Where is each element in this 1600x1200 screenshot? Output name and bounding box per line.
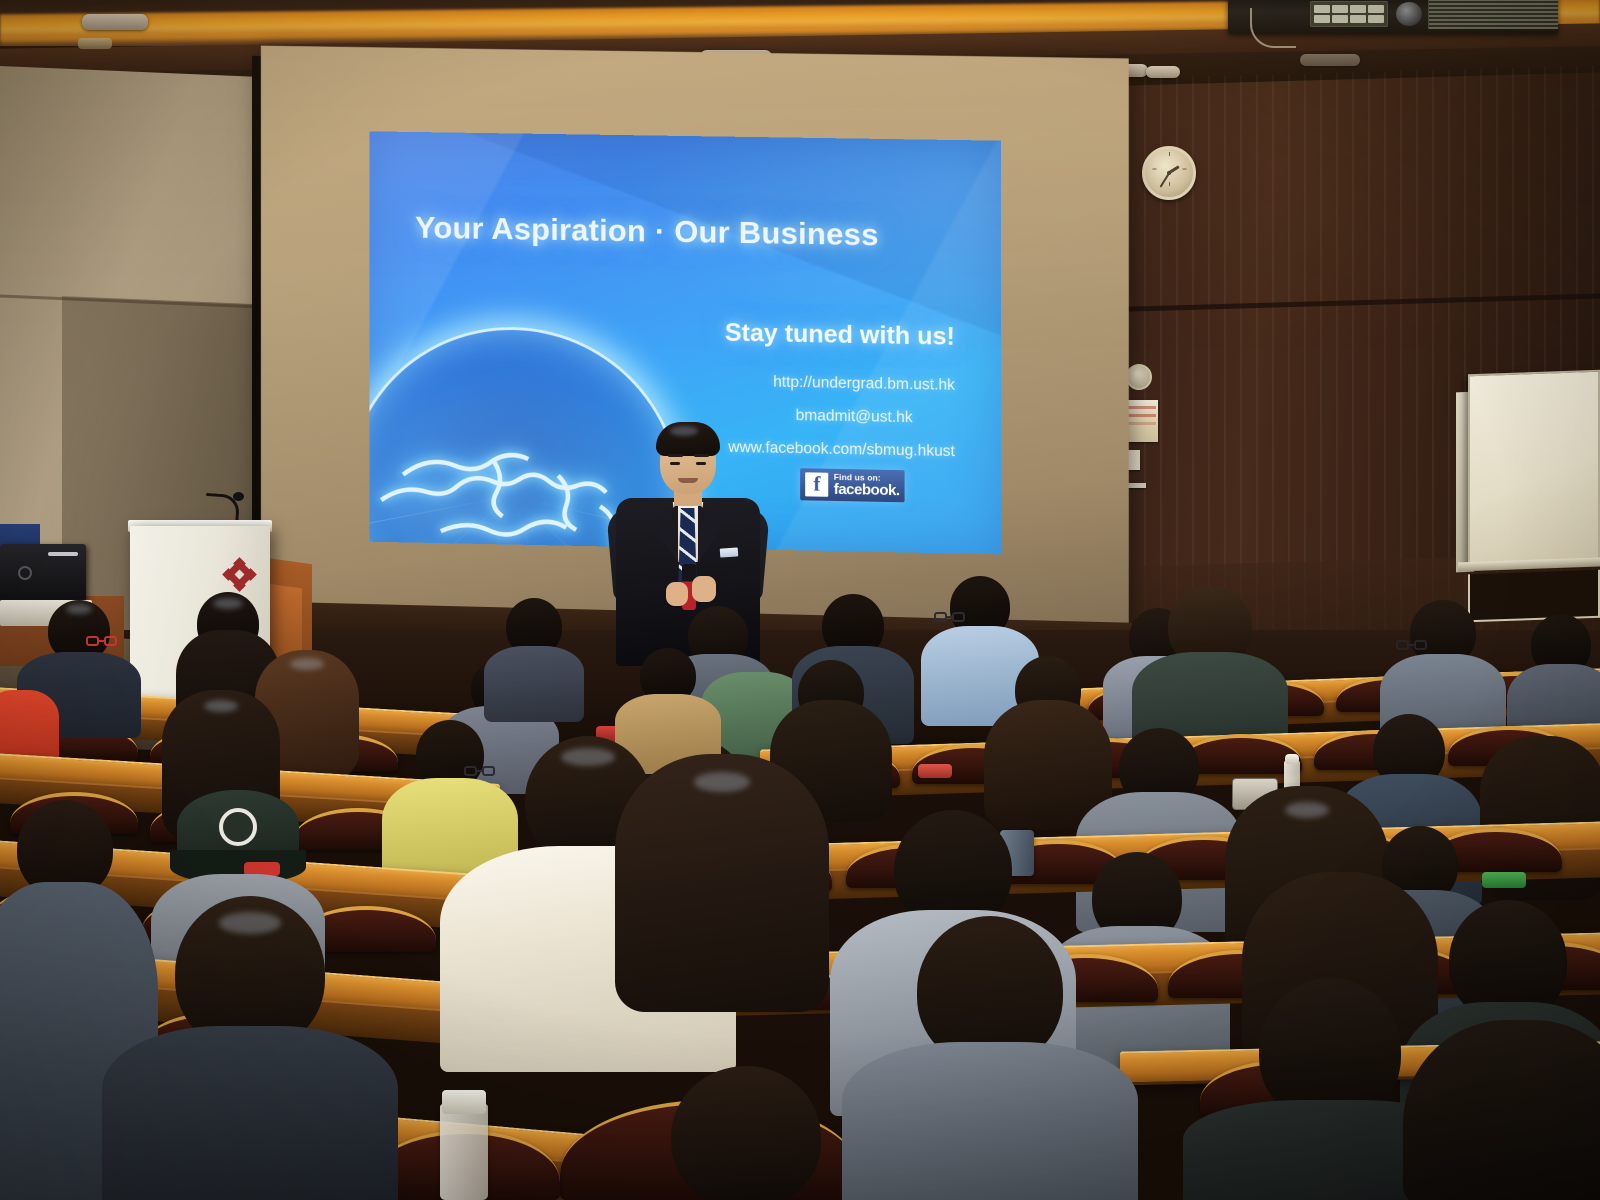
projector-button[interactable] — [1350, 15, 1366, 23]
ceiling-speaker-icon — [1300, 54, 1360, 66]
projector-control-panel[interactable] — [1310, 1, 1388, 27]
projector-button[interactable] — [1350, 5, 1366, 13]
bottle-cap — [442, 1090, 486, 1114]
audience-member — [482, 598, 586, 716]
presenter-hair-highlight — [670, 426, 698, 436]
person-torso — [484, 646, 584, 722]
slide-link-website[interactable]: http://undergrad.bm.ust.hk — [773, 374, 955, 395]
audience-member — [100, 896, 400, 1200]
projector-button[interactable] — [1314, 5, 1330, 13]
projector-button[interactable] — [1368, 15, 1384, 23]
cap-logo-icon — [219, 808, 257, 846]
person-head — [671, 1066, 821, 1200]
slide-link-email[interactable]: bmadmit@ust.hk — [796, 407, 913, 427]
ceiling-speaker-icon — [82, 14, 148, 30]
monitor-label-bar — [48, 552, 78, 556]
av-console-monitor[interactable] — [0, 544, 86, 602]
person-hair — [615, 754, 829, 1012]
projector-button[interactable] — [1332, 5, 1348, 13]
person-hair — [1403, 1020, 1600, 1200]
hkust-logo-icon — [222, 556, 258, 592]
presenter-pocket-square — [720, 547, 739, 557]
projector-button[interactable] — [1368, 5, 1384, 13]
audience-member — [606, 1066, 886, 1200]
ceiling-speaker-icon — [1146, 66, 1180, 78]
small-wall-clock — [1126, 364, 1152, 390]
projector-button[interactable] — [1332, 15, 1348, 23]
slide-subtitle: Stay tuned with us! — [725, 319, 955, 352]
person-torso — [842, 1042, 1138, 1200]
lecture-hall-scene: Your Aspiration · Our Business Stay tune… — [0, 0, 1600, 1200]
facebook-wordmark: facebook. — [834, 482, 900, 499]
projector-vent — [1428, 0, 1558, 29]
presenter-hand — [666, 582, 688, 606]
smoke-detector-icon — [78, 38, 112, 49]
pencil-case[interactable] — [918, 764, 952, 778]
audience-member — [1400, 1020, 1600, 1200]
presenter-mouth — [678, 478, 698, 483]
lectern-microphone-icon — [233, 492, 244, 501]
water-bottle[interactable] — [440, 1104, 488, 1200]
power-icon[interactable] — [18, 566, 32, 580]
wall-clock — [1142, 146, 1196, 200]
slide-title: Your Aspiration · Our Business — [415, 210, 955, 255]
presenter-hand — [692, 576, 716, 602]
bottle-cap — [1285, 754, 1299, 764]
projector-lens — [1396, 2, 1422, 26]
person-torso — [102, 1026, 398, 1200]
facebook-badge[interactable]: f Find us on: facebook. — [800, 468, 904, 502]
projector-button[interactable] — [1314, 15, 1330, 23]
wall-notice — [1124, 400, 1158, 442]
facebook-f-icon: f — [805, 472, 829, 496]
audience-member — [612, 754, 832, 1034]
whiteboard — [1468, 370, 1600, 567]
